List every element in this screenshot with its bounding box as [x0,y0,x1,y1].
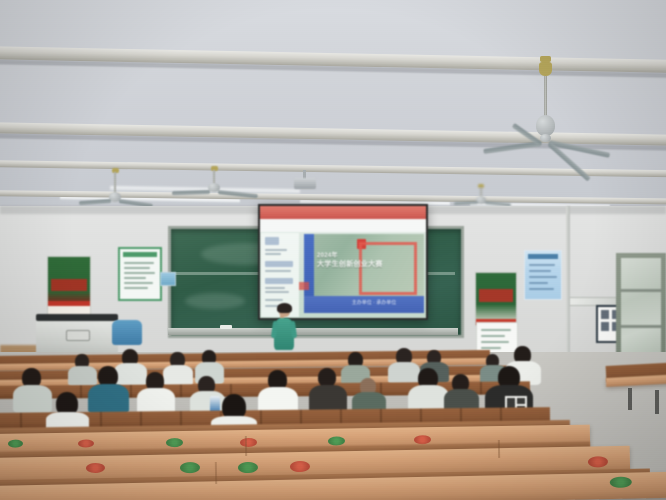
slide-title-line1: 2024年 [317,250,412,259]
left-wall-poster [47,256,91,320]
slide-footer-text: 主办单位 · 承办单位 [332,299,416,306]
desk-seam [498,440,500,458]
slide-red-marker [299,282,309,290]
slide-top-banner [260,206,426,219]
projector [294,178,316,189]
ceiling [0,0,666,215]
slide-white-gap [260,219,426,232]
classroom-photo: 2024年 大学生创新创业大赛 主办单位 · 承办单位 [0,0,666,500]
desk-leg [628,388,632,410]
left-wall-tag [160,272,176,286]
blue-notice-board [524,250,562,300]
blue-stool [112,320,142,345]
left-notice-board [118,247,162,301]
projected-slide: 2024年 大学生创新创业大赛 主办单位 · 承办单位 [260,206,426,318]
chalk-rail [168,328,458,335]
desk-seam [215,462,217,484]
slide-title-line2: 大学生创新创业大赛 [317,259,417,269]
wall-conduit [566,206,570,366]
desk-seam [245,436,247,456]
desk-leg [655,390,659,414]
right-wall-poster [475,272,517,326]
classroom-door[interactable] [616,253,666,363]
chalk-eraser [220,325,232,329]
